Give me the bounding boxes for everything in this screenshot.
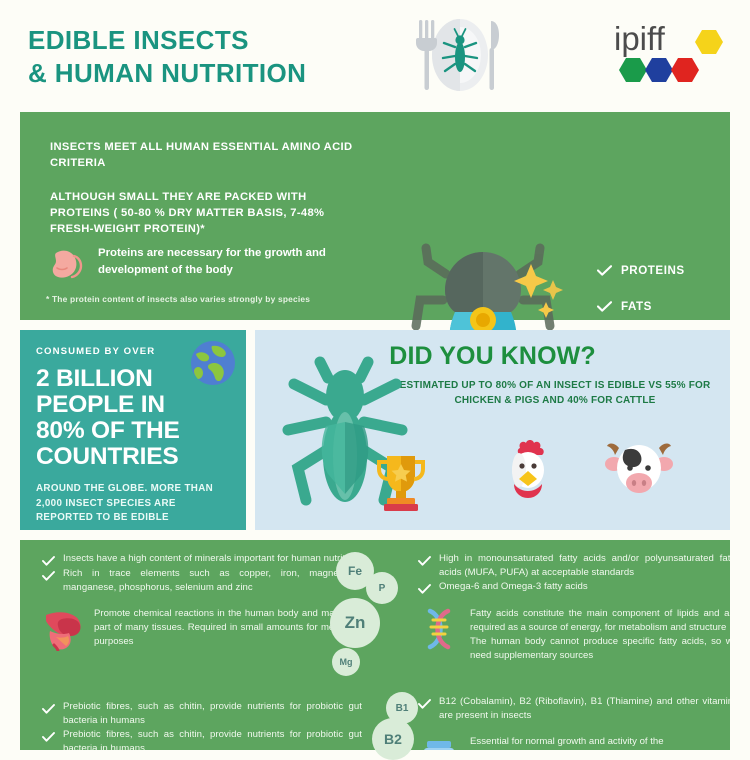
minerals-bullet: Rich in trace elements such as copper, i… <box>42 567 362 594</box>
headline-line-3: 80% OF THE <box>36 418 232 444</box>
protein-panel-text: INSECTS MEET ALL HUMAN ESSENTIAL AMINO A… <box>50 140 360 238</box>
minerals-note-block: Promote chemical reactions in the human … <box>42 607 362 651</box>
fork-plate-knife-insect-icon <box>395 12 525 98</box>
trophy-icon <box>373 450 429 512</box>
page-title: EDIBLE INSECTS & HUMAN NUTRITION <box>28 24 306 91</box>
nutrients-panel: Insects have a high content of minerals … <box>20 540 730 750</box>
vitamin-bubble-b2: B2 <box>372 718 414 760</box>
bullet-text: Insects have a high content of minerals … <box>63 552 358 566</box>
headline-line-2: PEOPLE IN <box>36 392 232 418</box>
fats-bullet: High in monounsaturated fatty acids and/… <box>418 552 730 579</box>
consumption-subtext: AROUND THE GLOBE. MORE THAN 2,000 INSECT… <box>36 482 232 526</box>
protein-footnote: * The protein content of insects also va… <box>46 294 446 304</box>
consumption-panel: CONSUMED BY OVER 2 BILLION PEOPLE IN 80%… <box>20 330 246 530</box>
check-icon <box>418 584 431 594</box>
logo-wordmark: ipiff <box>614 20 666 57</box>
checklist-item-fats: FATS <box>597 288 686 324</box>
check-icon <box>418 556 431 566</box>
bullet-text: Prebiotic fibres, such as chitin, provid… <box>63 728 362 750</box>
title-line-2: & HUMAN NUTRITION <box>28 57 306 90</box>
dna-helix-icon <box>418 607 460 651</box>
check-icon <box>42 732 55 742</box>
check-icon <box>42 704 55 714</box>
check-icon <box>597 301 612 312</box>
headline-line-4: COUNTRIES <box>36 444 232 470</box>
minerals-column: Insects have a high content of minerals … <box>42 552 362 651</box>
mineral-bubble-mg: Mg <box>332 648 360 676</box>
bullet-text: Omega-6 and Omega-3 fatty acids <box>439 580 588 594</box>
fibres-bullet: Prebiotic fibres, such as chitin, provid… <box>42 728 362 750</box>
checklist-label: FATS <box>621 300 652 313</box>
check-icon <box>418 699 431 709</box>
cow-icon <box>605 438 673 504</box>
header: EDIBLE INSECTS & HUMAN NUTRITION <box>0 0 750 108</box>
vitamins-note-block: Essential for normal growth and activity… <box>418 735 730 750</box>
bullet-text: B12 (Cobalamin), B2 (Riboflavin), B1 (Th… <box>439 695 730 722</box>
liver-organs-icon <box>42 607 84 651</box>
fats-note-1: Fatty acids constitute the main componen… <box>470 607 730 635</box>
vitamins-note: Essential for normal growth and activity… <box>470 735 664 749</box>
protein-note: Proteins are necessary for the growth an… <box>98 245 370 278</box>
fibres-column: Prebiotic fibres, such as chitin, provid… <box>42 700 362 750</box>
fibres-bullet: Prebiotic fibres, such as chitin, provid… <box>42 700 362 727</box>
ipiff-logo: ipiff <box>612 14 738 96</box>
minerals-note: Promote chemical reactions in the human … <box>94 607 362 649</box>
checklist-label: PROTEINS <box>621 264 685 277</box>
title-line-1: EDIBLE INSECTS <box>28 25 249 55</box>
check-icon <box>42 571 55 581</box>
infographic-page: EDIBLE INSECTS & HUMAN NUTRITION <box>0 0 750 750</box>
fats-note-block: Fatty acids constitute the main componen… <box>418 607 730 663</box>
fats-column: High in monounsaturated fatty acids and/… <box>418 552 730 663</box>
chicken-icon <box>500 438 556 504</box>
mineral-bubble-zn: Zn <box>330 598 380 648</box>
check-icon <box>42 556 55 566</box>
flexed-biceps-icon <box>50 247 88 281</box>
vitamins-bullet: B12 (Cobalamin), B2 (Riboflavin), B1 (Th… <box>418 695 730 722</box>
did-you-know-panel: DID YOU KNOW? ESTIMATED UP TO 80% OF AN … <box>255 330 730 530</box>
vitamins-column: B12 (Cobalamin), B2 (Riboflavin), B1 (Th… <box>418 695 730 750</box>
minerals-bullet: Insects have a high content of minerals … <box>42 552 362 566</box>
protein-note-row: Proteins are necessary for the growth an… <box>50 245 370 281</box>
check-icon <box>597 265 612 276</box>
bullet-text: High in monounsaturated fatty acids and/… <box>439 552 730 579</box>
did-you-know-body: ESTIMATED UP TO 80% OF AN INSECT IS EDIB… <box>395 378 715 408</box>
protein-heading-2: ALTHOUGH SMALL THEY ARE PACKED WITH PROT… <box>50 190 360 238</box>
protein-panel: INSECTS MEET ALL HUMAN ESSENTIAL AMINO A… <box>20 112 730 320</box>
mineral-bubble-p: P <box>366 572 398 604</box>
bullet-text: Prebiotic fibres, such as chitin, provid… <box>63 700 362 727</box>
fats-note-2: The human body cannot produce specific f… <box>470 635 730 663</box>
checklist-item-proteins: PROTEINS <box>597 252 686 288</box>
bullet-text: Rich in trace elements such as copper, i… <box>63 567 362 594</box>
vitamin-jar-icon <box>418 735 460 750</box>
globe-earth-icon <box>190 340 236 386</box>
protein-heading-1: INSECTS MEET ALL HUMAN ESSENTIAL AMINO A… <box>50 140 360 172</box>
fats-bullet: Omega-6 and Omega-3 fatty acids <box>418 580 730 594</box>
